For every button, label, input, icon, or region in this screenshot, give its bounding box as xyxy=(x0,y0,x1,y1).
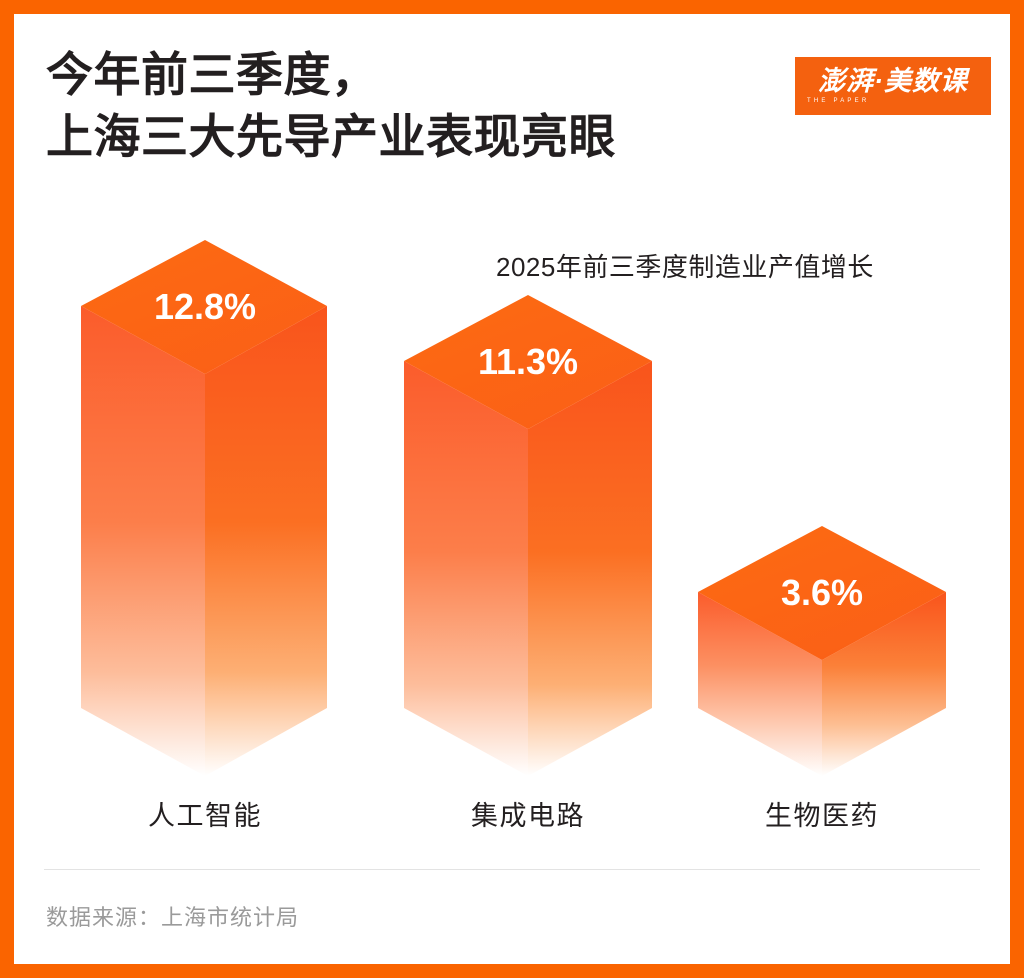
bar-right-face xyxy=(205,306,327,776)
chart-subtitle: 2025年前三季度制造业产值增长 xyxy=(496,247,874,284)
category-label-2: 生物医药 xyxy=(765,794,879,833)
bar-group-2[interactable]: 3.6% xyxy=(698,526,946,776)
bar-left-face xyxy=(81,306,205,776)
category-label-0: 人工智能 xyxy=(148,794,262,833)
footer-divider xyxy=(44,869,980,870)
bar-value-label: 3.6% xyxy=(781,572,863,613)
data-source-note: 数据来源：上海市统计局 xyxy=(46,900,299,932)
bar-group-0[interactable]: 12.8% xyxy=(81,240,327,776)
category-label-1: 集成电路 xyxy=(471,794,585,833)
bar-right-face xyxy=(528,361,652,776)
infographic-page: 今年前三季度， 上海三大先导产业表现亮眼 澎湃·美数课 THE PAPER xyxy=(14,14,1010,964)
bar-value-label: 11.3% xyxy=(478,341,578,382)
bar-left-face xyxy=(404,361,528,776)
bar-value-label: 12.8% xyxy=(154,286,256,327)
bar-group-1[interactable]: 11.3% xyxy=(404,295,652,776)
